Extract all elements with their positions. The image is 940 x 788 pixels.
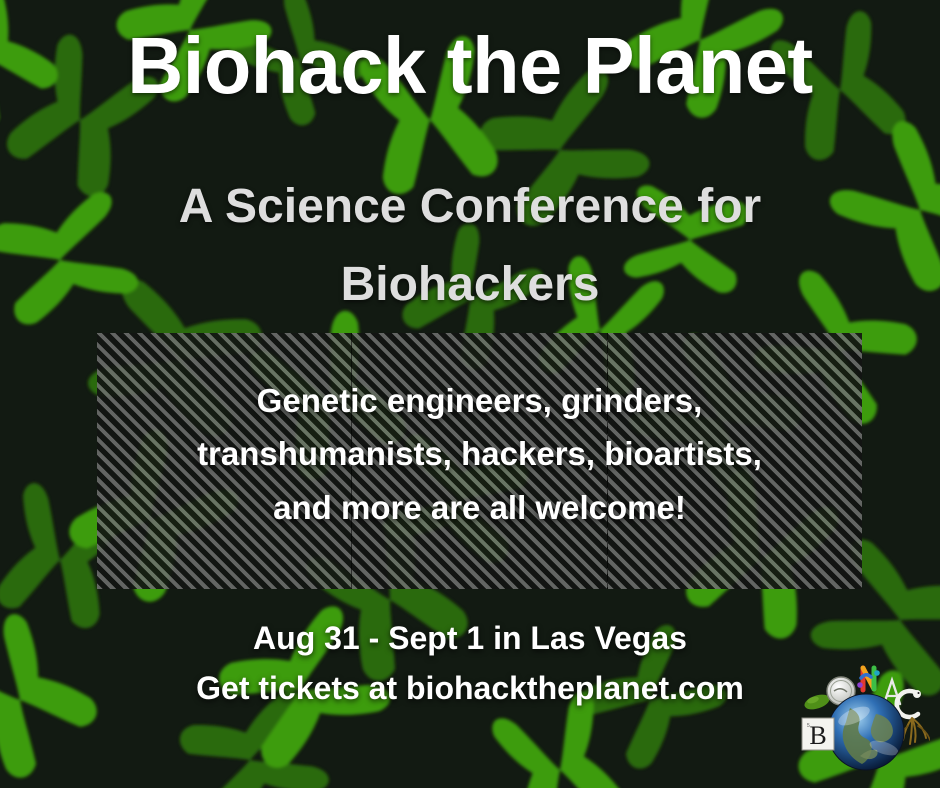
protein-structure-n-icon bbox=[857, 668, 880, 690]
tickets-url-line[interactable]: Get tickets at biohacktheplanet.com bbox=[0, 664, 940, 714]
subtitle: A Science Conference for Biohackers bbox=[120, 168, 820, 324]
event-dates-location: Aug 31 - Sept 1 in Las Vegas bbox=[0, 614, 940, 664]
footer-info: Aug 31 - Sept 1 in Las Vegas Get tickets… bbox=[0, 614, 940, 713]
letter-tile-b-glyph: B bbox=[809, 721, 826, 750]
earth-globe-icon bbox=[828, 694, 904, 770]
poster-canvas: Biohack the Planet A Science Conference … bbox=[0, 0, 940, 788]
subtitle-line-2: Biohackers bbox=[120, 246, 820, 324]
biohack-the-planet-logo: B 5 bbox=[800, 660, 930, 778]
audience-line-1: Genetic engineers, grinders, bbox=[257, 374, 703, 427]
audience-line-2: transhumanists, hackers, bioartists, bbox=[197, 427, 762, 480]
audience-line-3: and more are all welcome! bbox=[273, 481, 686, 534]
letter-tile-b: B 5 bbox=[802, 718, 834, 750]
page-title: Biohack the Planet bbox=[14, 26, 926, 106]
subtitle-line-1: A Science Conference for bbox=[120, 168, 820, 246]
audience-description: Genetic engineers, grinders, transhumani… bbox=[97, 333, 862, 589]
letter-tile-b-sup: 5 bbox=[807, 723, 810, 729]
